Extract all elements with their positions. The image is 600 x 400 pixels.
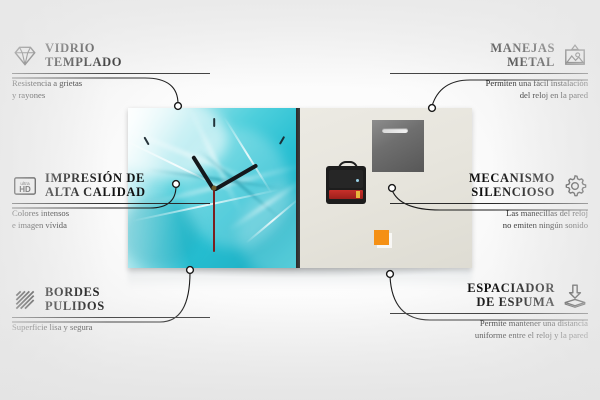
feature-description-line: del reloj en la pared <box>390 90 588 102</box>
mechanism-indicator <box>356 179 359 182</box>
feature-description: Permite mantener una distancia uniforme … <box>390 318 588 341</box>
feature-title-line: DE ESPUMA <box>467 296 555 310</box>
feature-title-line: SILENCIOSO <box>469 186 555 200</box>
infographic-canvas: VIDRIO TEMPLADO Resistencia a grietas y … <box>0 0 600 400</box>
feature-divider <box>390 203 588 204</box>
feature-impresion-alta-calidad: ultra HD IMPRESIÓN DE ALTA CALIDAD Color… <box>12 172 210 231</box>
feature-description-line: y rayones <box>12 90 210 102</box>
clock-second-hand <box>213 188 215 252</box>
clock-mechanism <box>326 166 366 204</box>
feature-divider <box>12 317 210 318</box>
feature-title-line: ESPACIADOR <box>467 282 555 296</box>
feature-title-line: PULIDOS <box>45 300 105 314</box>
ultra-hd-icon: ultra HD <box>12 173 38 199</box>
feature-description: Permiten una fácil instalación del reloj… <box>390 78 588 101</box>
foam-spacer-pad <box>374 230 389 245</box>
mechanism-body <box>329 170 363 188</box>
feature-description: Superficie lisa y segura <box>12 322 210 334</box>
feature-description-line: Permite mantener una distancia <box>390 318 588 330</box>
feature-title-line: MANEJAS <box>490 42 555 56</box>
metal-hanger-plate <box>372 120 424 172</box>
feature-title-line: ALTA CALIDAD <box>45 186 146 200</box>
clock-tick <box>143 137 149 146</box>
clock-center-cap <box>212 186 217 191</box>
feature-title-line: TEMPLADO <box>45 56 122 70</box>
feature-manejas-metal: MANEJAS METAL Permiten una fácil instala… <box>390 42 588 101</box>
picture-hanger-icon <box>562 43 588 69</box>
feature-espaciador-espuma: ESPACIADOR DE ESPUMA Permite mantener un… <box>390 282 588 341</box>
feature-divider <box>390 313 588 314</box>
feature-description-line: Resistencia a grietas <box>12 78 210 90</box>
feature-mecanismo-silencioso: MECANISMO SILENCIOSO Las manecillas del … <box>390 172 588 231</box>
hanger-slot <box>382 128 408 133</box>
feature-title-line: MECANISMO <box>469 172 555 186</box>
feature-title-line: IMPRESIÓN DE <box>45 172 146 186</box>
gear-icon <box>562 173 588 199</box>
clock-tick <box>279 136 285 145</box>
feature-description-line: e imagen vívida <box>12 220 210 232</box>
feature-bordes-pulidos: BORDES PULIDOS Superficie lisa y segura <box>12 286 210 334</box>
clock-tick <box>213 118 215 127</box>
feature-description-line: Superficie lisa y segura <box>12 322 210 334</box>
feature-title-line: VIDRIO <box>45 42 122 56</box>
clock-minute-hand <box>213 163 258 191</box>
svg-text:HD: HD <box>19 184 31 193</box>
battery-terminal <box>356 191 360 198</box>
feature-divider <box>390 73 588 74</box>
feature-description: Resistencia a grietas y rayones <box>12 78 210 101</box>
feature-divider <box>12 73 210 74</box>
feature-title-line: METAL <box>490 56 555 70</box>
foam-spacer-icon <box>562 283 588 309</box>
feature-description-line: no emiten ningún sonido <box>390 220 588 232</box>
feature-description: Las manecillas del reloj no emiten ningú… <box>390 208 588 231</box>
polished-edges-icon <box>12 287 38 313</box>
feature-description-line: uniforme entre el reloj y la pared <box>390 330 588 342</box>
feature-title-line: BORDES <box>45 286 105 300</box>
feature-description: Colores intensos e imagen vívida <box>12 208 210 231</box>
diamond-icon <box>12 43 38 69</box>
feature-divider <box>12 203 210 204</box>
feature-description-line: Las manecillas del reloj <box>390 208 588 220</box>
feature-description-line: Colores intensos <box>12 208 210 220</box>
feature-vidrio-templado: VIDRIO TEMPLADO Resistencia a grietas y … <box>12 42 210 101</box>
feature-description-line: Permiten una fácil instalación <box>390 78 588 90</box>
battery <box>329 190 363 199</box>
